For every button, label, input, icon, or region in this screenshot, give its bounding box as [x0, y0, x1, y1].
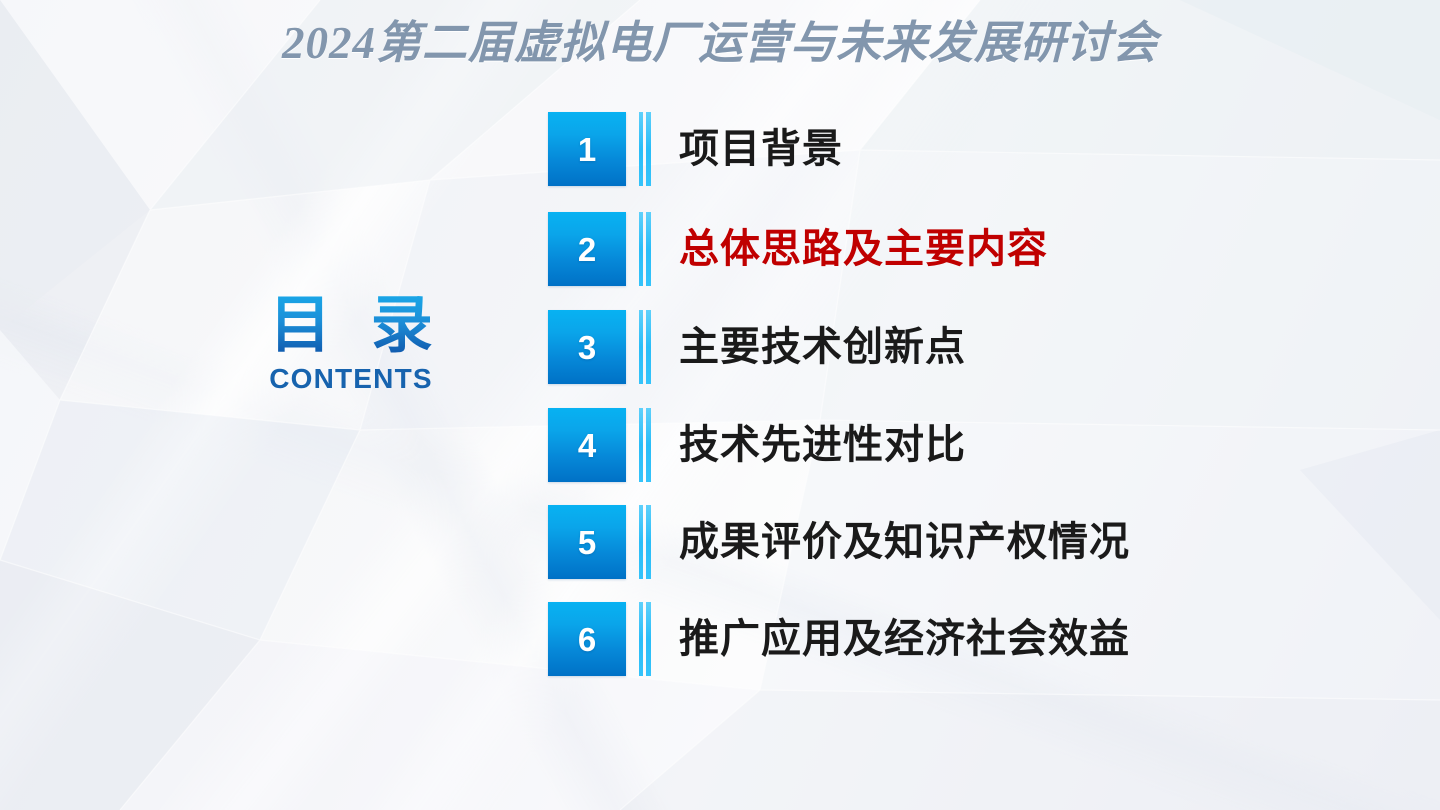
toc-number-badge: 6	[548, 602, 626, 676]
divider-bar-icon	[639, 505, 643, 579]
toc-number: 6	[578, 623, 596, 656]
toc-item[interactable]: 3 主要技术创新点	[548, 310, 966, 384]
toc-item[interactable]: 2 总体思路及主要内容	[548, 212, 1048, 286]
toc-item-label: 主要技术创新点	[679, 327, 966, 367]
toc-item-label: 技术先进性对比	[679, 425, 966, 465]
toc-item-label: 推广应用及经济社会效益	[679, 619, 1130, 659]
divider-bar-icon	[646, 408, 651, 482]
contents-heading-cn: 目 录	[255, 292, 456, 357]
toc-number-badge: 3	[548, 310, 626, 384]
contents-heading-en: CONTENTS	[246, 363, 456, 395]
divider-bar-icon	[646, 112, 651, 186]
toc-divider-bars	[639, 408, 651, 482]
toc-number: 2	[578, 233, 596, 266]
divider-bar-icon	[639, 212, 643, 286]
presentation-slide: 2024第二届虚拟电厂运营与未来发展研讨会 目 录 CONTENTS 1 项目背…	[0, 0, 1440, 810]
toc-divider-bars	[639, 505, 651, 579]
toc-item[interactable]: 6 推广应用及经济社会效益	[548, 602, 1130, 676]
toc-number-badge: 5	[548, 505, 626, 579]
toc-divider-bars	[639, 602, 651, 676]
divider-bar-icon	[639, 408, 643, 482]
toc-number: 4	[578, 429, 596, 462]
divider-bar-icon	[639, 310, 643, 384]
toc-item-label: 成果评价及知识产权情况	[679, 522, 1130, 562]
divider-bar-icon	[639, 112, 643, 186]
divider-bar-icon	[646, 212, 651, 286]
divider-bar-icon	[646, 505, 651, 579]
contents-heading-block: 目 录 CONTENTS	[246, 292, 456, 395]
toc-number-badge: 2	[548, 212, 626, 286]
toc-divider-bars	[639, 310, 651, 384]
toc-number: 3	[578, 331, 596, 364]
toc-item[interactable]: 5 成果评价及知识产权情况	[548, 505, 1130, 579]
toc-divider-bars	[639, 212, 651, 286]
toc-item[interactable]: 4 技术先进性对比	[548, 408, 966, 482]
slide-title: 2024第二届虚拟电厂运营与未来发展研讨会	[0, 6, 1440, 71]
toc-item-label: 总体思路及主要内容	[679, 229, 1048, 269]
toc-divider-bars	[639, 112, 651, 186]
divider-bar-icon	[646, 310, 651, 384]
divider-bar-icon	[646, 602, 651, 676]
toc-item[interactable]: 1 项目背景	[548, 112, 843, 186]
toc-number-badge: 1	[548, 112, 626, 186]
toc-number-badge: 4	[548, 408, 626, 482]
toc-number: 5	[578, 526, 596, 559]
divider-bar-icon	[639, 602, 643, 676]
toc-item-label: 项目背景	[679, 129, 843, 169]
toc-number: 1	[578, 133, 596, 166]
